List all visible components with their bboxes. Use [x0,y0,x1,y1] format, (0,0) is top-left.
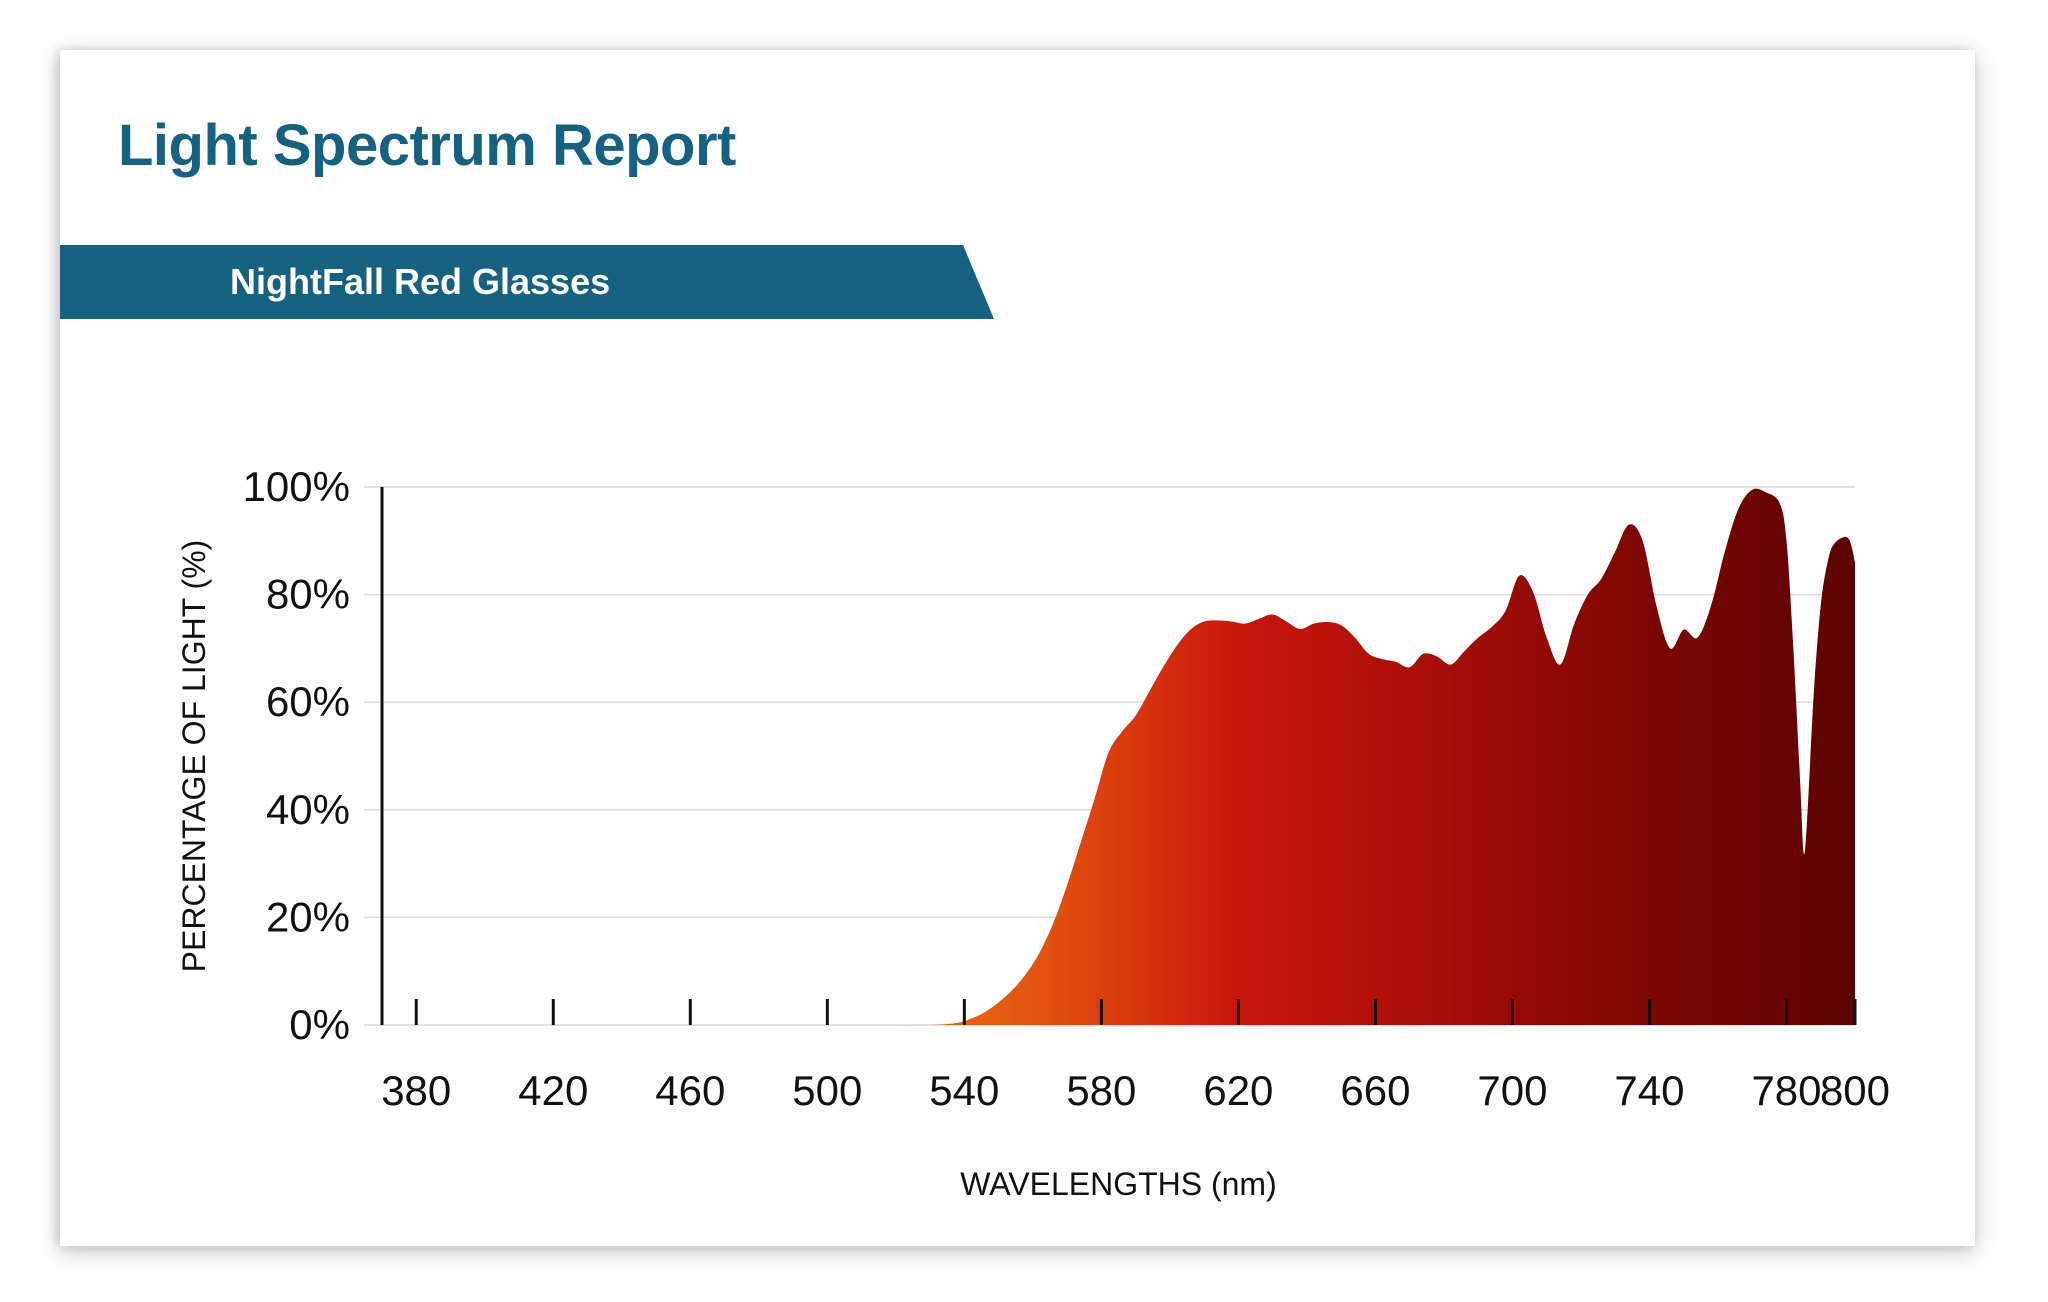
y-tick-label: 40% [266,786,350,833]
page-title: Light Spectrum Report [118,112,736,179]
x-tick-label: 660 [1340,1067,1410,1114]
banner-label: NightFall Red Glasses [230,245,850,319]
x-tick-label: 700 [1477,1067,1547,1114]
x-axis-title: WAVELENGTHS (nm) [960,1166,1276,1202]
y-tick-labels: 0%20%40%60%80%100% [243,463,350,1048]
y-tick-label: 80% [266,571,350,618]
spectrum-chart: 380420460500540580620660700740780800 0%2… [60,330,1975,1230]
y-tick-label: 100% [243,463,350,510]
y-axis-title: PERCENTAGE OF LIGHT (%) [176,540,212,973]
report-card: Light Spectrum Report NightFall Red Glas… [60,50,1975,1246]
x-tick-label: 740 [1614,1067,1684,1114]
x-tick-label: 800 [1820,1067,1890,1114]
x-tick-label: 540 [929,1067,999,1114]
y-tick-label: 0% [289,1001,350,1048]
chart-area-series [382,489,1855,1026]
y-tick-label: 60% [266,678,350,725]
x-tick-label: 500 [792,1067,862,1114]
x-tick-label: 420 [518,1067,588,1114]
x-tick-label: 460 [655,1067,725,1114]
x-tick-label: 620 [1203,1067,1273,1114]
x-tick-label: 380 [381,1067,451,1114]
x-tick-label: 780 [1751,1067,1821,1114]
x-tick-labels: 380420460500540580620660700740780800 [381,1067,1890,1114]
spectrum-area [382,489,1855,1026]
report-page: Light Spectrum Report NightFall Red Glas… [0,0,2048,1302]
y-tick-label: 20% [266,893,350,940]
x-tick-label: 580 [1066,1067,1136,1114]
